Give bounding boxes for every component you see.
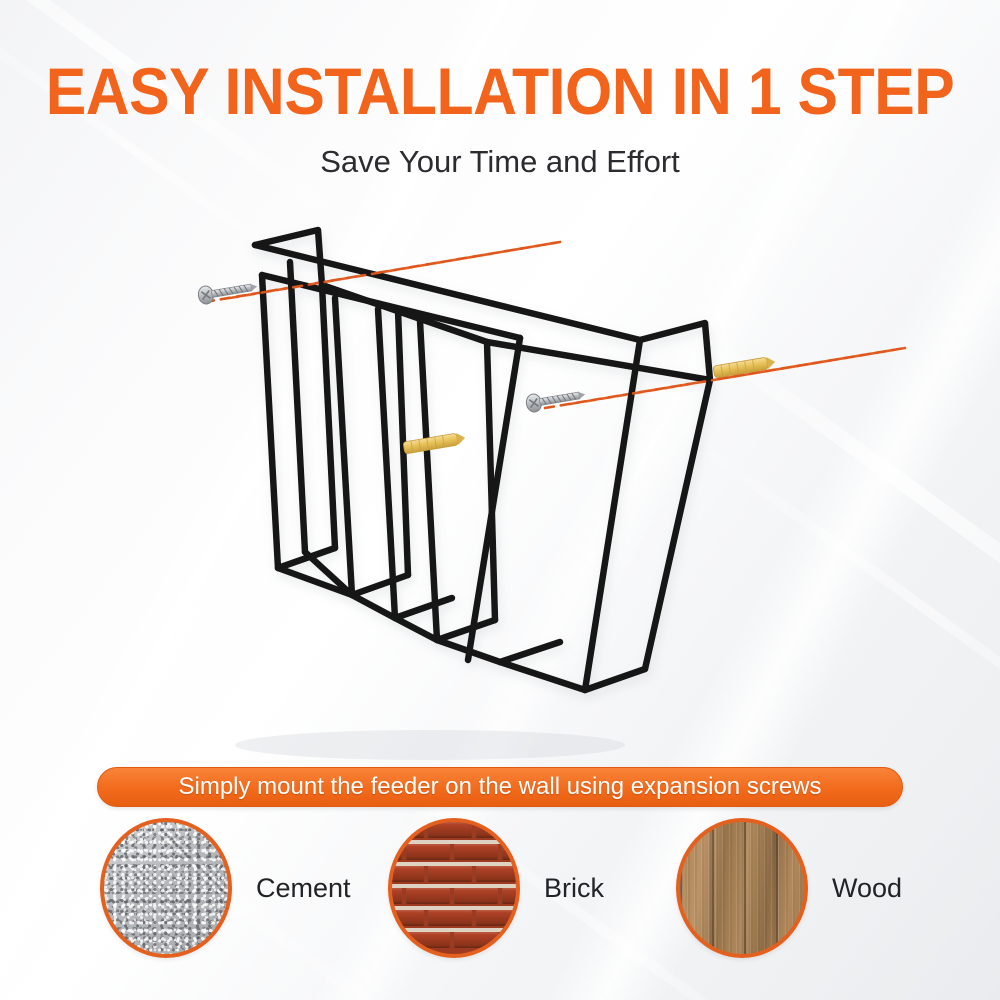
material-item-cement: Cement: [100, 818, 351, 958]
axis-line-lower: [545, 348, 905, 408]
material-item-brick: Brick: [388, 818, 604, 958]
base-depth-6: [585, 669, 645, 690]
wood-texture-swatch: [676, 818, 808, 958]
screw-lower: [525, 386, 587, 414]
rear-post-3: [487, 342, 495, 620]
wire-feeder-frame: [255, 230, 710, 690]
compatible-surfaces-row: Cement: [0, 818, 1000, 988]
headline: EASY INSTALLATION IN 1 STEP: [40, 58, 960, 124]
cement-texture-swatch: [100, 818, 232, 958]
base-depth-4: [437, 620, 495, 640]
product-shadow: [235, 730, 625, 760]
base-depth-3: [395, 598, 452, 618]
base-rail-c: [352, 595, 395, 618]
divider-post-2: [378, 309, 395, 618]
post-left-outer: [262, 275, 278, 568]
rear-post-4: [645, 380, 710, 669]
material-label-brick: Brick: [544, 875, 604, 902]
base-rail-d: [395, 618, 437, 640]
mounting-axis-lines: [205, 242, 905, 408]
rear-post-1: [322, 285, 335, 548]
instruction-banner-text: Simply mount the feeder on the wall usin…: [178, 775, 821, 799]
axis-overlay-lower: [570, 348, 905, 404]
brick-texture-swatch: [388, 818, 520, 958]
divider-post-1: [335, 298, 352, 595]
product-illustration: [0, 190, 1000, 770]
material-item-wood: Wood: [676, 818, 902, 958]
post-back-right: [585, 340, 640, 690]
divider-post-3: [420, 321, 437, 640]
base-depth-5: [500, 642, 560, 662]
base-depth-2: [352, 575, 408, 595]
subheadline: Save Your Time and Effort: [0, 142, 1000, 182]
post-left-inner: [290, 262, 305, 552]
instruction-banner: Simply mount the feeder on the wall usin…: [97, 767, 903, 807]
material-label-cement: Cement: [256, 875, 351, 902]
base-rail-f: [500, 662, 585, 690]
installation-infographic: EASY INSTALLATION IN 1 STEP Save Your Ti…: [0, 0, 1000, 1000]
material-label-wood: Wood: [832, 875, 902, 902]
rail-mid-back-right: [487, 342, 710, 380]
screw-upper: [197, 278, 259, 306]
wall-anchor-upper: [403, 432, 466, 454]
